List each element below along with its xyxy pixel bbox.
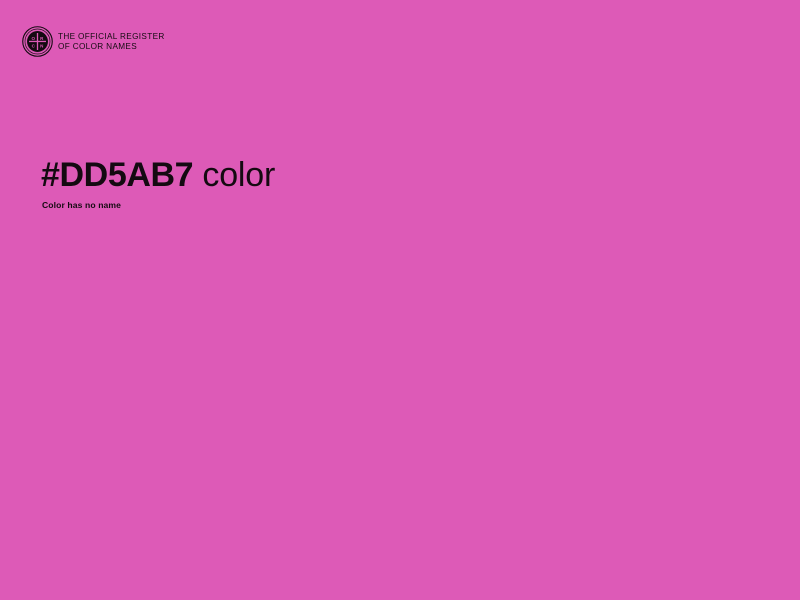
- color-hex-value: #DD5AB7: [41, 156, 193, 194]
- page-title: #DD5AB7 color: [41, 155, 275, 195]
- brand-line-2: OF COLOR NAMES: [58, 42, 165, 53]
- register-seal-icon: O R C N: [22, 26, 53, 57]
- color-name-status: Color has no name: [42, 199, 121, 211]
- svg-text:N: N: [40, 44, 43, 49]
- color-title-suffix: color: [193, 156, 275, 194]
- svg-text:O: O: [31, 36, 35, 41]
- brand-line-1: THE OFFICIAL REGISTER: [58, 32, 165, 43]
- brand-text: THE OFFICIAL REGISTER OF COLOR NAMES: [58, 32, 165, 53]
- brand-lockup[interactable]: O R C N THE OFFICIAL REGISTER OF COLOR N…: [22, 26, 165, 57]
- color-page: O R C N THE OFFICIAL REGISTER OF COLOR N…: [0, 0, 800, 600]
